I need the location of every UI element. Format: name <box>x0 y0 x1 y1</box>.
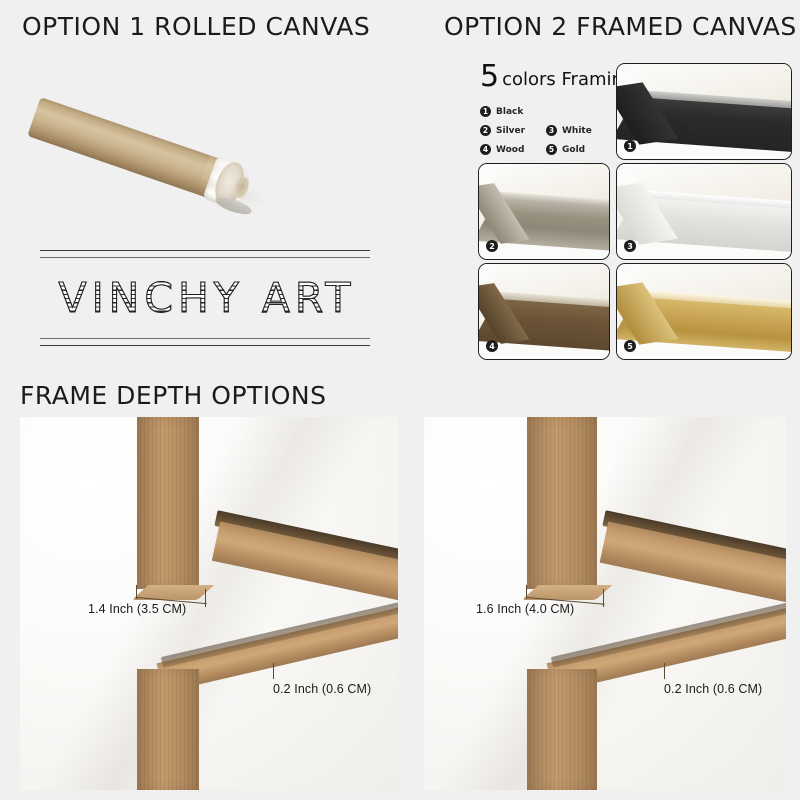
tube-body <box>28 97 226 200</box>
section-title-frame-depth: FRAME DEPTH OPTIONS <box>20 381 326 410</box>
frame-swatch-photo-wood <box>479 264 609 359</box>
logo-rule-top-outer <box>40 250 370 251</box>
legend-label-3: White <box>562 126 592 136</box>
frame-vertical-stile-upper <box>527 417 597 589</box>
thickness-tick <box>664 663 665 679</box>
thickness-label-1: 0.2 Inch (0.6 CM) <box>273 682 371 696</box>
legend-badge-3: 3 <box>546 125 557 136</box>
framing-heading-rest: colors Framing <box>502 69 634 90</box>
photo-wall-shadow <box>20 417 398 790</box>
legend-item-black: 1 Black <box>480 106 608 117</box>
section-title-option-1: OPTION 1 ROLLED CANVAS <box>22 12 370 41</box>
legend-item-silver: 2 Silver <box>480 125 542 136</box>
brand-logo: VINCHY ART <box>40 248 370 353</box>
legend-label-2: Silver <box>496 126 525 136</box>
legend-badge-1: 1 <box>480 106 491 117</box>
legend-label-5: Gold <box>562 145 585 155</box>
legend-item-gold: 5 Gold <box>546 144 608 155</box>
legend-label-1: Black <box>496 107 523 117</box>
frame-swatch-gold[interactable]: 5 <box>616 263 792 360</box>
thickness-tick <box>273 663 274 679</box>
frame-swatch-photo-black <box>617 64 791 159</box>
depth-label-1: 1.4 Inch (3.5 CM) <box>88 602 186 616</box>
frame-swatch-wood[interactable]: 4 <box>478 263 610 360</box>
swatch-badge-5: 5 <box>624 340 636 352</box>
swatch-badge-2: 2 <box>486 240 498 252</box>
legend-badge-4: 4 <box>480 144 491 155</box>
legend-item-wood: 4 Wood <box>480 144 542 155</box>
logo-rule-top-inner <box>40 257 370 258</box>
frame-swatch-white[interactable]: 3 <box>616 163 792 260</box>
legend-label-4: Wood <box>496 145 524 155</box>
legend-badge-2: 2 <box>480 125 491 136</box>
frame-depth-photo-2: 1.6 Inch (4.0 CM) 0.2 Inch (0.6 CM) <box>424 417 786 790</box>
frame-swatch-silver[interactable]: 2 <box>478 163 610 260</box>
legend-item-white: 3 White <box>546 125 608 136</box>
thickness-label-2: 0.2 Inch (0.6 CM) <box>664 682 762 696</box>
frame-swatch-photo-gold <box>617 264 791 359</box>
swatch-badge-1: 1 <box>624 140 636 152</box>
logo-rule-bottom-inner <box>40 338 370 339</box>
frame-swatch-photo-silver <box>479 164 609 259</box>
logo-rule-bottom-outer <box>40 345 370 346</box>
framing-count: 5 <box>480 59 499 94</box>
framing-legend-heading: 5colors Framing <box>480 62 630 92</box>
depth-label-2: 1.6 Inch (4.0 CM) <box>476 602 574 616</box>
frame-swatch-black[interactable]: 1 <box>616 63 792 160</box>
swatch-badge-4: 4 <box>486 340 498 352</box>
frame-swatch-photo-white <box>617 164 791 259</box>
frame-depth-photo-1: 1.4 Inch (3.5 CM) 0.2 Inch (0.6 CM) <box>20 417 398 790</box>
frame-vertical-stile-upper <box>137 417 199 589</box>
swatch-badge-3: 3 <box>624 240 636 252</box>
section-title-option-2: OPTION 2 FRAMED CANVAS <box>444 12 797 41</box>
rolled-canvas-image <box>28 58 293 218</box>
brand-logo-text: VINCHY ART <box>42 274 372 322</box>
framing-legend-list: 1 Black 2 Silver 3 White 4 Wood 5 Gold <box>480 106 630 155</box>
frame-vertical-stile-lower <box>527 669 597 790</box>
framing-legend: 5colors Framing 1 Black 2 Silver 3 White… <box>480 62 630 155</box>
legend-badge-5: 5 <box>546 144 557 155</box>
frame-vertical-stile-lower <box>137 669 199 790</box>
infographic-page: OPTION 1 ROLLED CANVAS VINCHY ART OPTION… <box>0 0 800 800</box>
